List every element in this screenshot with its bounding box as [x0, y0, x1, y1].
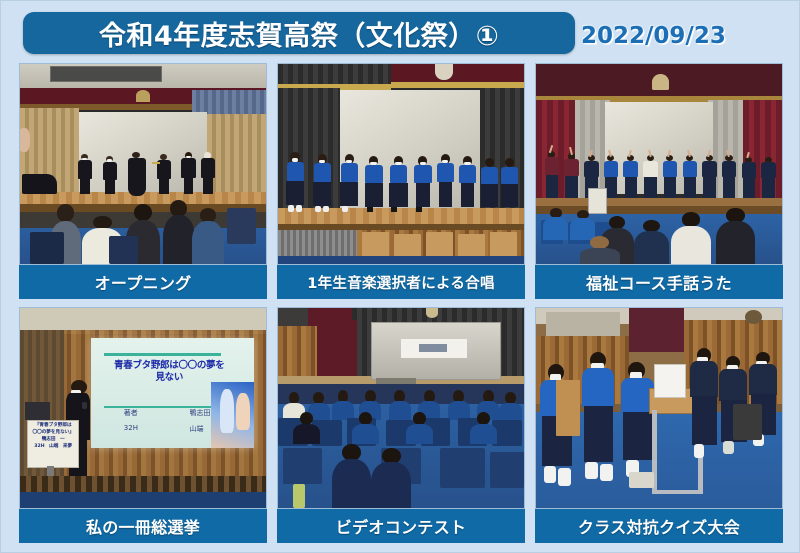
- caption-sign-language-song: 福祉コース手話うた: [535, 265, 783, 299]
- placard-line4: 32H 山端 来夢: [30, 444, 76, 451]
- projection-screen: [371, 322, 501, 380]
- photo-card-opening[interactable]: オープニング: [19, 63, 267, 303]
- slide-page: 令和4年度志賀高祭（文化祭）① 2022/09/23: [0, 0, 800, 553]
- presentation-slide: 青春ブタ野郎は〇〇の夢を 見ない 著者 鴨志田 一 32H 山端 来夢: [91, 338, 253, 448]
- photo-class-quiz: [535, 307, 783, 509]
- placard-line2: 〇〇の夢を見ない』: [30, 430, 76, 437]
- slide-author-label: 著者: [124, 408, 138, 418]
- photo-card-chorus[interactable]: 1年生音楽選択者による合唱: [277, 63, 525, 303]
- header: 令和4年度志賀高祭（文化祭）① 2022/09/23: [1, 1, 800, 63]
- photo-card-class-quiz[interactable]: クラス対抗クイズ大会: [535, 307, 783, 547]
- page-title: 令和4年度志賀高祭（文化祭）①: [99, 14, 499, 53]
- caption-class-quiz: クラス対抗クイズ大会: [535, 509, 783, 543]
- placard: 『青春ブタ野郎は 〇〇の夢を見ない』 鴨志田 一 32H 山端 来夢: [27, 420, 79, 468]
- caption-video-contest: ビデオコンテスト: [277, 509, 525, 543]
- photo-card-book-election[interactable]: 青春ブタ野郎は〇〇の夢を 見ない 著者 鴨志田 一 32H 山端 来夢: [19, 307, 267, 547]
- placard-line1: 『青春ブタ野郎は: [30, 423, 76, 430]
- caption-book-election: 私の一冊総選挙: [19, 509, 267, 543]
- photo-opening: [19, 63, 267, 265]
- photo-card-video-contest[interactable]: ビデオコンテスト: [277, 307, 525, 547]
- title-banner: 令和4年度志賀高祭（文化祭）①: [23, 12, 575, 54]
- photo-book-election: 青春ブタ野郎は〇〇の夢を 見ない 著者 鴨志田 一 32H 山端 来夢: [19, 307, 267, 509]
- placard-line3: 鴨志田 一: [30, 437, 76, 444]
- slide-title-line1: 青春ブタ野郎は〇〇の夢を: [98, 360, 241, 372]
- photo-sign-language-song: [535, 63, 783, 265]
- photo-chorus: [277, 63, 525, 265]
- slide-presenter-class: 32H: [124, 424, 138, 434]
- date-label: 2022/09/23: [581, 23, 726, 49]
- caption-opening: オープニング: [19, 265, 267, 299]
- caption-chorus: 1年生音楽選択者による合唱: [277, 265, 525, 299]
- photo-grid: オープニング: [19, 63, 783, 543]
- photo-card-sign-language-song[interactable]: 福祉コース手話うた: [535, 63, 783, 303]
- photo-video-contest: [277, 307, 525, 509]
